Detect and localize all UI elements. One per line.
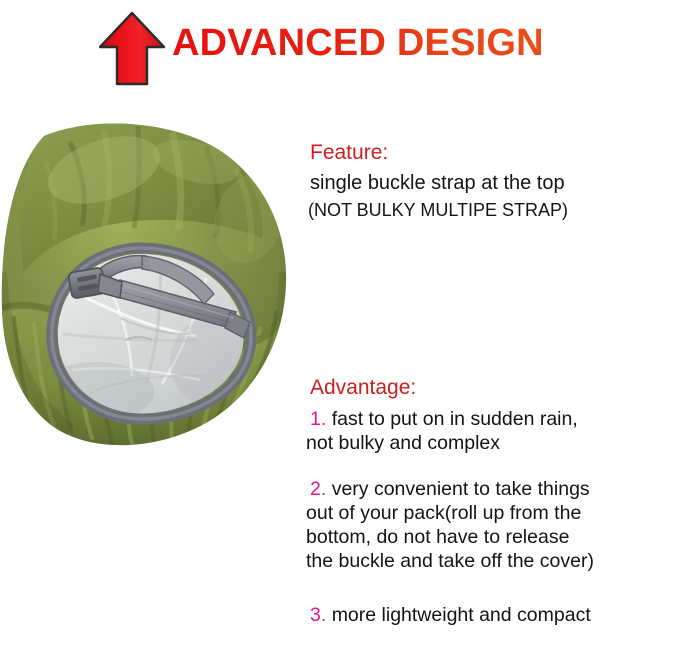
advantage-text-line-4: the buckle and take off the cover) (306, 549, 676, 573)
advantage-number: 1. (310, 408, 326, 430)
list-item: 3. more lightweight and compact (310, 603, 676, 627)
advantage-text-line-2: not bulky and complex (306, 431, 676, 455)
header-banner: ADVANCED DESIGN (0, 0, 679, 100)
feature-heading: Feature: (310, 140, 672, 166)
feature-section: Feature: single buckle strap at the top … (310, 140, 672, 223)
advantage-number: 3. (310, 604, 326, 626)
product-image-rain-cover (0, 122, 292, 452)
advantage-number: 2. (310, 478, 326, 500)
arrow-up-icon (97, 11, 167, 87)
list-item: 2. very convenient to take things out of… (310, 477, 676, 573)
advantage-text-line-1: very convenient to take things (332, 478, 590, 500)
page-title: ADVANCED DESIGN (172, 20, 544, 66)
feature-text-line-2: (NOT BULKY MULTIPE STRAP) (308, 197, 672, 223)
advantage-section: Advantage: 1. fast to put on in sudden r… (310, 375, 676, 627)
advantage-list: 1. fast to put on in sudden rain, not bu… (310, 407, 676, 627)
advantage-heading: Advantage: (310, 375, 676, 401)
feature-text-line-1: single buckle strap at the top (310, 170, 672, 197)
list-item: 1. fast to put on in sudden rain, not bu… (310, 407, 676, 455)
advantage-text-line-3: bottom, do not have to release (306, 525, 676, 549)
advantage-text-line-1: more lightweight and compact (332, 604, 591, 626)
advantage-text-line-1: fast to put on in sudden rain, (332, 408, 578, 430)
product-infographic: ADVANCED DESIGN (0, 0, 679, 645)
advantage-text-line-2: out of your pack(roll up from the (306, 501, 676, 525)
